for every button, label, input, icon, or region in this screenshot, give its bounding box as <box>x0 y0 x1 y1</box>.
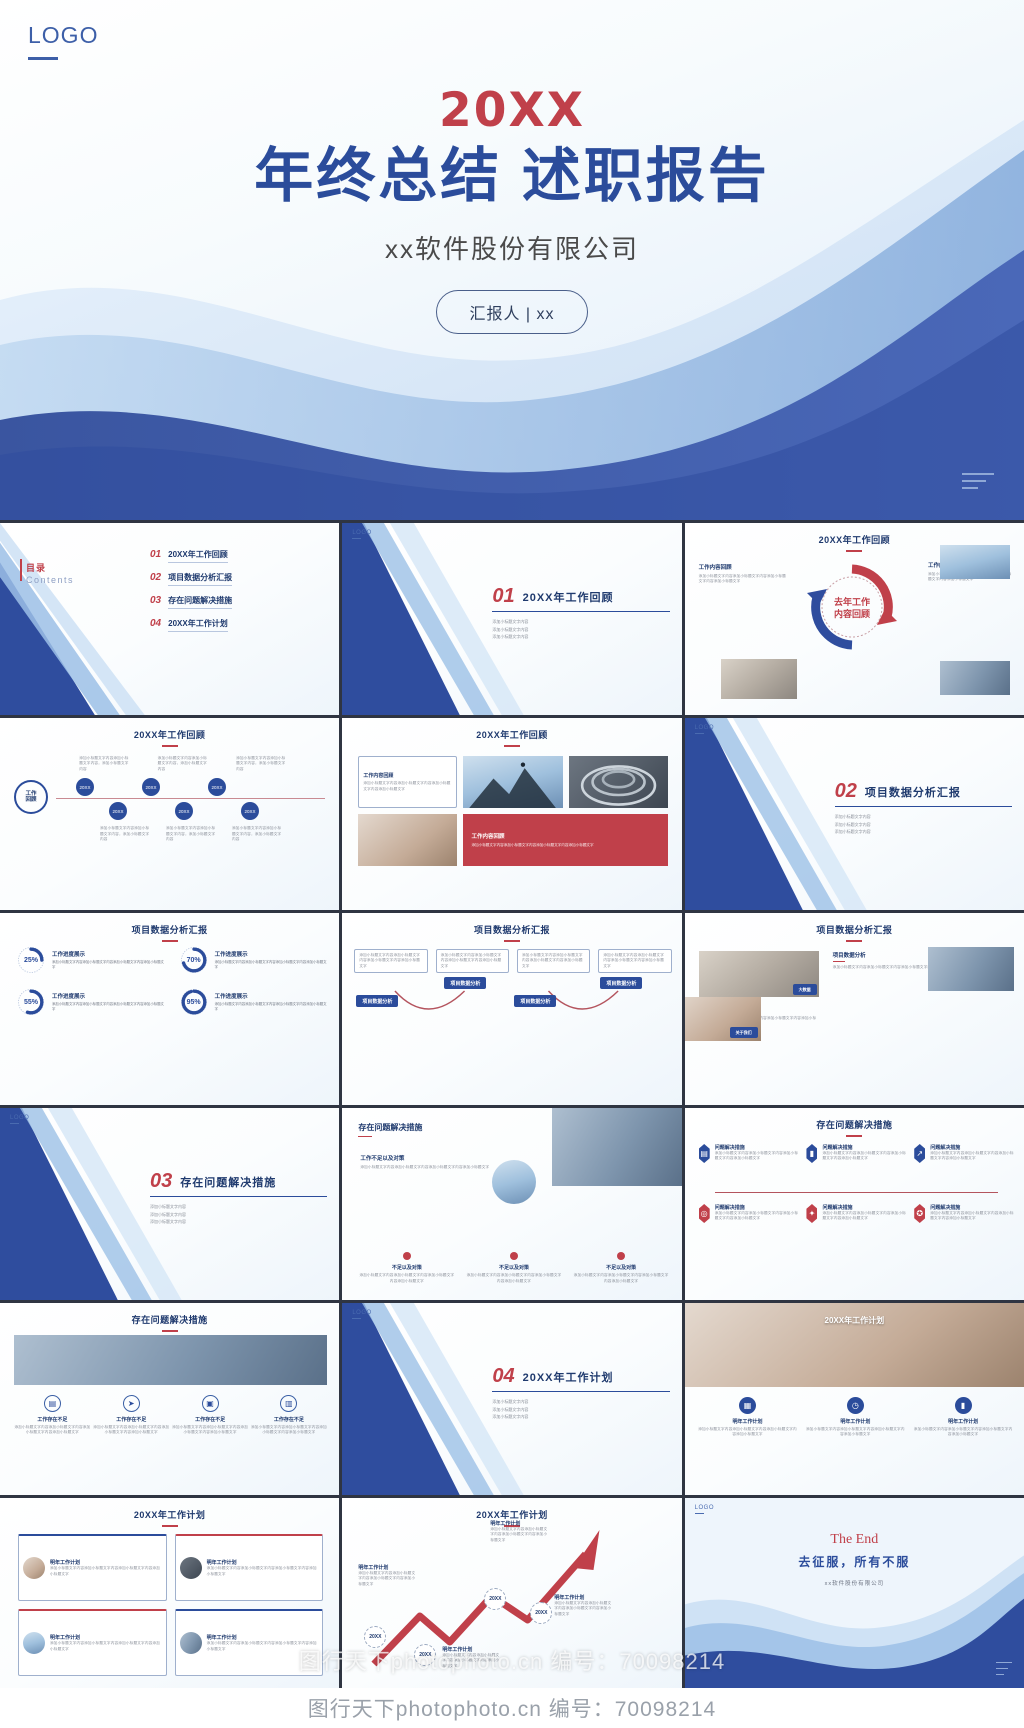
section-title: 项目数据分析汇报 <box>865 784 961 800</box>
timeline-hub: 工作回顾 <box>14 780 48 814</box>
donut-value: 70% <box>179 945 209 975</box>
card-body: 添加小标题文字内容添加小标题文字内容添加小标题文字内容添加小标题文字 <box>50 1566 162 1577</box>
slide-heading: 20XX年工作计划 <box>0 1508 339 1527</box>
section-title: 20XX年工作计划 <box>523 1369 614 1385</box>
hero-slide: LOGO 20XX 年终总结 述职报告 xx软件股份有限公司 汇报人 | xx <box>0 0 1024 520</box>
timeline-label: 添加小标题文字内容添加小标题文字内容，添加小标题文字内容 <box>79 756 131 772</box>
flow-pill: 项目数据分析 <box>514 995 556 1007</box>
item-body: 添加小标题文字内容添加小标题文字内容添加小标题文字内容添加小标题文字 <box>93 1425 170 1436</box>
problem-item: 不足以及对策 添加小标题文字内容添加小标题文字内容添加小标题文字内容添加小标题文… <box>573 1252 670 1284</box>
thumb-end[interactable]: LOGO The End 去征服，所有不服 xx软件股份有限公司 <box>685 1498 1024 1690</box>
plan-card: 明年工作计划 添加小标题文字内容添加小标题文字内容添加小标题文字内容添加小标题文… <box>175 1609 324 1676</box>
card-title: 工作内容回顾 <box>471 832 659 840</box>
card-thumb <box>180 1632 202 1654</box>
node-label: 20XX <box>484 1588 506 1610</box>
toc-item[interactable]: 01 20XX年工作回顾 <box>150 549 232 563</box>
label-body: 添加小标题文字内容添加小标题文字内容添加小标题文字内容添加小标题文字 <box>490 1527 550 1543</box>
flow-pill-label: 项目数据分析 <box>514 995 556 1007</box>
thumb-section-04[interactable]: LOGO 04 20XX年工作计划 添加小标题文字内容 添加小标题文字内容 添加… <box>342 1303 681 1495</box>
bullet: 添加小标题文字内容 <box>492 1406 669 1414</box>
clock-icon: ◷ <box>847 1397 864 1414</box>
donut-label: 工作进度展示 <box>52 950 165 958</box>
timeline-label: 添加小标题文字内容添加小标题文字内容，添加小标题文字内容 <box>158 756 210 772</box>
section-bullets: 添加小标题文字内容 添加小标题文字内容 添加小标题文字内容 <box>492 618 669 641</box>
slide-heading: 20XX年工作回顾 <box>0 728 339 747</box>
hero-logo-text: LOGO <box>28 22 98 49</box>
item-body: 添加小标题文字内容添加小标题文字内容添加小标题文字内容添加小标题文字 <box>14 1425 91 1436</box>
item-label: 不足以及对策 <box>358 1264 455 1271</box>
thumb-problem-three[interactable]: 存在问题解决措施 工作不足以及对策 添加小标题文字内容添加小标题文字内容添加小标… <box>342 1108 681 1300</box>
section-title: 20XX年工作回顾 <box>523 589 614 605</box>
bullet: 添加小标题文字内容 <box>492 618 669 626</box>
heading-rule <box>358 1136 372 1137</box>
timeline-axis <box>56 798 325 799</box>
timeline-node: 20XX <box>109 802 127 820</box>
icon-item: ▤ 工作存在不足 添加小标题文字内容添加小标题文字内容添加小标题文字内容添加小标… <box>14 1395 91 1436</box>
donut-item: 25% 工作进度展示 添加小标题文字内容添加小标题文字内容添加小标题文字内容添加… <box>16 945 165 975</box>
hex-connector-line <box>715 1192 998 1193</box>
timeline-top-labels: 添加小标题文字内容添加小标题文字内容，添加小标题文字内容 添加小标题文字内容添加… <box>10 756 331 772</box>
item-body: 添加小标题文字内容添加小标题文字内容添加小标题文字内容添加小标题文字 <box>804 1427 906 1438</box>
arrow-ring-icon: 去年工作 内容回顾 <box>797 555 907 659</box>
flow-pill-label: 项目数据分析 <box>600 977 642 989</box>
thumb-review-photos[interactable]: 20XX年工作回顾 工作内容回顾 添加小标题文字内容添加小标题文字内容添加小标题… <box>342 718 681 910</box>
timeline-label: 添加小标题文字内容添加小标题文字内容，添加小标题文字内容 <box>232 826 284 842</box>
timeline-bottom-labels: 添加小标题文字内容添加小标题文字内容，添加小标题文字内容 添加小标题文字内容添加… <box>10 826 331 842</box>
end-company: xx软件股份有限公司 <box>685 1579 1024 1587</box>
timeline-node: 20XX <box>241 802 259 820</box>
hex-item: ✦ 问题解决措施 添加小标题文字内容添加小标题文字内容添加小标题文字内容添加小标… <box>806 1204 906 1223</box>
timeline-node: 20XX <box>175 802 193 820</box>
section-number: 03 <box>150 1170 172 1193</box>
card-body: 添加小标题文字内容添加小标题文字内容添加小标题文字内容添加小标题文字 <box>207 1566 319 1577</box>
target-icon: ◎ <box>699 1204 710 1223</box>
photo-mountain <box>463 756 562 808</box>
photo-architecture <box>569 756 668 808</box>
donut-text: 工作进度展示 添加小标题文字内容添加小标题文字内容添加小标题文字内容添加小标题文… <box>215 992 328 1012</box>
label-title: 明年工作计划 <box>442 1646 502 1653</box>
donut-body: 添加小标题文字内容添加小标题文字内容添加小标题文字内容添加小标题文字 <box>215 960 328 970</box>
donut-chart: 55% <box>16 987 46 1017</box>
circular-arrow-diagram: 去年工作 内容回顾 <box>797 555 907 659</box>
donut-chart: 25% <box>16 945 46 975</box>
thumb-problem-icons[interactable]: 存在问题解决措施 ▤ 工作存在不足 添加小标题文字内容添加小标题文字内容添加小标… <box>0 1303 339 1495</box>
hex-item: ◎ 问题解决措施 添加小标题文字内容添加小标题文字内容添加小标题文字内容添加小标… <box>699 1204 799 1223</box>
hex-item: ▤ 问题解决措施 添加小标题文字内容添加小标题文字内容添加小标题文字内容添加小标… <box>699 1144 799 1163</box>
bullet: 添加小标题文字内容 <box>492 626 669 634</box>
donut-label: 工作进度展示 <box>52 992 165 1000</box>
bullet: 添加小标题文字内容 <box>150 1218 327 1226</box>
hero-corner-marks <box>962 473 994 494</box>
slide-logo: LOGO <box>352 1310 371 1319</box>
item-label: 问题解决措施 <box>930 1204 1014 1211</box>
donut-text: 工作进度展示 添加小标题文字内容添加小标题文字内容添加小标题文字内容添加小标题文… <box>52 950 165 970</box>
toc-label: 目录 Contents <box>26 561 74 585</box>
hex-item: ✪ 问题解决措施 添加小标题文字内容添加小标题文字内容添加小标题文字内容添加小标… <box>914 1204 1014 1223</box>
donut-chart: 95% <box>179 987 209 1017</box>
photo-office <box>940 545 1010 579</box>
problem-item: 不足以及对策 添加小标题文字内容添加小标题文字内容添加小标题文字内容添加小标题文… <box>465 1252 562 1284</box>
label-body: 添加小标题文字内容添加小标题文字内容添加小标题文字内容添加小标题文字 <box>358 1571 418 1587</box>
donut-text: 工作进度展示 添加小标题文字内容添加小标题文字内容添加小标题文字内容添加小标题文… <box>215 950 328 970</box>
toc-item-label: 存在问题解决措施 <box>168 595 232 609</box>
item-body: 添加小标题文字内容添加小标题文字内容添加小标题文字内容添加小标题文字 <box>250 1425 327 1436</box>
donut-value: 55% <box>16 987 46 1017</box>
item-body: 添加小标题文字内容添加小标题文字内容添加小标题文字内容添加小标题文字 <box>715 1211 799 1222</box>
flow-box: 添加小标题文字内容添加小标题文字内容添加小标题文字内容添加小标题文字 <box>598 949 671 973</box>
end-corner-marks <box>996 1662 1012 1680</box>
section-number: 04 <box>492 1365 514 1388</box>
donut-chart: 70% <box>179 945 209 975</box>
mountain-silhouette-icon <box>463 756 562 808</box>
title-rule <box>833 961 845 962</box>
timeline-label: 添加小标题文字内容添加小标题文字内容，添加小标题文字内容 <box>236 756 288 772</box>
flow-boxes: 添加小标题文字内容添加小标题文字内容添加小标题文字内容添加小标题文字 添加小标题… <box>354 949 671 973</box>
bullet: 添加小标题文字内容 <box>150 1211 327 1219</box>
problem-items: 不足以及对策 添加小标题文字内容添加小标题文字内容添加小标题文字内容添加小标题文… <box>358 1252 669 1284</box>
toc-item-number: 03 <box>150 595 161 606</box>
label-title: 明年工作计划 <box>490 1520 550 1527</box>
plan-item: ▮ 明年工作计划 添加小标题文字内容添加小标题文字内容添加小标题文字内容添加小标… <box>912 1397 1014 1438</box>
flow-pill: 项目数据分析 <box>600 977 642 989</box>
bullet: 添加小标题文字内容 <box>835 821 1012 829</box>
hex-top-row: ▤ 问题解决措施 添加小标题文字内容添加小标题文字内容添加小标题文字内容添加小标… <box>699 1144 1014 1163</box>
chart-node: 20XX <box>364 1626 386 1648</box>
donut-body: 添加小标题文字内容添加小标题文字内容添加小标题文字内容添加小标题文字 <box>215 1002 328 1012</box>
node-label: 20XX <box>414 1644 436 1666</box>
block-body: 添加小标题文字内容添加小标题文字内容添加小标题文字内容添加小标题文字 <box>699 574 787 585</box>
item-label: 明年工作计划 <box>804 1418 906 1425</box>
hero-logo: LOGO <box>28 22 98 60</box>
flow-pill-label: 项目数据分析 <box>444 977 486 989</box>
bullet-dot-icon <box>510 1252 518 1260</box>
slide-heading: 存在问题解决措施 <box>358 1122 422 1137</box>
section-rule <box>150 1196 327 1197</box>
cursor-icon: ➤ <box>123 1395 140 1412</box>
item-body: 添加小标题文字内容添加小标题文字内容添加小标题文字内容添加小标题文字 <box>358 1273 455 1284</box>
item-label: 问题解决措施 <box>930 1144 1014 1151</box>
slide-heading: 存在问题解决措施 <box>0 1313 339 1332</box>
slide-logo: LOGO <box>695 1505 714 1514</box>
donut-item: 55% 工作进度展示 添加小标题文字内容添加小标题文字内容添加小标题文字内容添加… <box>16 987 165 1017</box>
slide-heading: 项目数据分析汇报 <box>342 923 681 942</box>
item-body: 添加小标题文字内容添加小标题文字内容添加小标题文字内容添加小标题文字 <box>912 1427 1014 1438</box>
timeline: 添加小标题文字内容添加小标题文字内容，添加小标题文字内容 添加小标题文字内容添加… <box>10 756 331 842</box>
item-label: 工作存在不足 <box>14 1416 91 1423</box>
bullet: 添加小标题文字内容 <box>835 828 1012 836</box>
node-label: 20XX <box>530 1602 552 1624</box>
hero-content: 20XX 年终总结 述职报告 xx软件股份有限公司 汇报人 | xx <box>0 86 1024 334</box>
timeline-label: 添加小标题文字内容添加小标题文字内容，添加小标题文字内容 <box>166 826 218 842</box>
hex-item: ↗ 问题解决措施 添加小标题文字内容添加小标题文字内容添加小标题文字内容添加小标… <box>914 1144 1014 1163</box>
donut-body: 添加小标题文字内容添加小标题文字内容添加小标题文字内容添加小标题文字 <box>52 1002 165 1012</box>
hex-bottom-row: ◎ 问题解决措施 添加小标题文字内容添加小标题文字内容添加小标题文字内容添加小标… <box>699 1204 1014 1223</box>
plan-item: ◷ 明年工作计划 添加小标题文字内容添加小标题文字内容添加小标题文字内容添加小标… <box>804 1397 906 1438</box>
svg-text:内容回顾: 内容回顾 <box>834 608 870 619</box>
hero-title: 年终总结 述职报告 <box>0 143 1024 211</box>
item-label: 明年工作计划 <box>697 1418 799 1425</box>
slide-logo: LOGO <box>10 1115 29 1124</box>
toc-item-number: 01 <box>150 549 161 560</box>
timeline-label: 添加小标题文字内容添加小标题文字内容，添加小标题文字内容 <box>100 826 152 842</box>
photo-desk-hands <box>358 814 457 866</box>
slide-heading: 项目数据分析汇报 <box>0 923 339 942</box>
timeline-node: 20XX <box>208 778 226 796</box>
end-wave-decoration <box>685 1498 1024 1690</box>
timeline-hub-label: 工作回顾 <box>25 791 36 804</box>
section-block: 01 20XX年工作回顾 添加小标题文字内容 添加小标题文字内容 添加小标题文字… <box>492 585 669 641</box>
thumb-review-timeline[interactable]: 20XX年工作回顾 添加小标题文字内容添加小标题文字内容，添加小标题文字内容 添… <box>0 718 339 910</box>
chart-node: 20XX <box>484 1588 506 1610</box>
hero-logo-underline <box>28 57 58 60</box>
red-text-card: 工作内容回顾 添加小标题文字内容添加小标题文字内容添加小标题文字内容添加小标题文… <box>463 814 667 866</box>
bullet: 添加小标题文字内容 <box>492 633 669 641</box>
flow-box: 添加小标题文字内容添加小标题文字内容添加小标题文字内容添加小标题文字 <box>436 949 509 973</box>
photo-tag: 关于我们 <box>730 1027 758 1038</box>
chart-label: 明年工作计划 添加小标题文字内容添加小标题文字内容添加小标题文字内容添加小标题文… <box>554 1594 614 1617</box>
toc-list: 01 20XX年工作回顾 02 项目数据分析汇报 03 存在问题解决措施 04 … <box>150 549 232 641</box>
bullet: 添加小标题文字内容 <box>150 1203 327 1211</box>
card-thumb <box>23 1632 45 1654</box>
photo-meeting <box>721 659 797 699</box>
thumb-plan-chart[interactable]: 20XX年工作计划 20XX 20XX 20XX 20XX 明年工作计划 添加小… <box>342 1498 681 1690</box>
toc-item-number: 02 <box>150 572 161 583</box>
card-body: 添加小标题文字内容添加小标题文字内容添加小标题文字内容添加小标题文字 <box>471 843 659 849</box>
flow-pill: 项目数据分析 <box>444 977 486 989</box>
toc-accent-bar <box>20 559 22 581</box>
ascending-trend-arrow <box>342 1524 681 1674</box>
toc-item[interactable]: 04 20XX年工作计划 <box>150 618 232 632</box>
block-body: 添加小标题文字内容添加小标题文字内容添加小标题文字内容添加小标题文字 <box>360 1165 490 1170</box>
item-label: 工作存在不足 <box>250 1416 327 1423</box>
watermark-bar: 图行天下photophoto.cn 编号：70098214 <box>0 1688 1024 1728</box>
icon-item: ▣ 工作存在不足 添加小标题文字内容添加小标题文字内容添加小标题文字内容添加小标… <box>172 1395 249 1436</box>
toc-label-cn: 目录 <box>26 561 74 574</box>
thumb-plan-icons[interactable]: 20XX年工作计划 ▦ 明年工作计划 添加小标题文字内容添加小标题文字内容添加小… <box>685 1303 1024 1495</box>
photo-skyscraper <box>14 1335 327 1385</box>
gear-icon: ✪ <box>914 1204 925 1223</box>
flow-box: 添加小标题文字内容添加小标题文字内容添加小标题文字内容添加小标题文字 <box>354 949 427 973</box>
section-bullets: 添加小标题文字内容 添加小标题文字内容 添加小标题文字内容 <box>492 1398 669 1421</box>
card-thumb <box>180 1557 202 1579</box>
hero-presenter-badge: 汇报人 | xx <box>436 290 587 334</box>
icon-item: ➤ 工作存在不足 添加小标题文字内容添加小标题文字内容添加小标题文字内容添加小标… <box>93 1395 170 1436</box>
card-body: 添加小标题文字内容添加小标题文字内容添加小标题文字内容添加小标题文字 <box>50 1641 162 1652</box>
item-label: 问题解决措施 <box>822 1204 906 1211</box>
item-label: 明年工作计划 <box>912 1418 1014 1425</box>
section-bullets: 添加小标题文字内容 添加小标题文字内容 添加小标题文字内容 <box>835 813 1012 836</box>
toc-item[interactable]: 02 项目数据分析汇报 <box>150 572 232 586</box>
toc-item[interactable]: 03 存在问题解决措施 <box>150 595 232 609</box>
slide-heading: 20XX年工作计划 <box>685 1315 1024 1326</box>
card-title: 工作内容回顾 <box>363 772 452 779</box>
node-label: 20XX <box>364 1626 386 1648</box>
section-rule <box>835 806 1012 807</box>
hex-item: ▮ 问题解决措施 添加小标题文字内容添加小标题文字内容添加小标题文字内容添加小标… <box>806 1144 906 1163</box>
slide-heading: 项目数据分析汇报 <box>685 923 1024 942</box>
slide-heading: 存在问题解决措施 <box>685 1118 1024 1137</box>
item-body: 添加小标题文字内容添加小标题文字内容添加小标题文字内容添加小标题文字 <box>930 1151 1014 1162</box>
item-body: 添加小标题文字内容添加小标题文字内容添加小标题文字内容添加小标题文字 <box>697 1427 799 1438</box>
thumb-section-01[interactable]: LOGO 01 20XX年工作回顾 添加小标题文字内容 添加小标题文字内容 添加… <box>342 523 681 715</box>
chart-label: 明年工作计划 添加小标题文字内容添加小标题文字内容添加小标题文字内容添加小标题文… <box>490 1520 550 1543</box>
thumb-section-02[interactable]: LOGO 02 项目数据分析汇报 添加小标题文字内容 添加小标题文字内容 添加小… <box>685 718 1024 910</box>
text-card: 工作内容回顾 添加小标题文字内容添加小标题文字内容添加小标题文字内容添加小标题文… <box>358 756 457 808</box>
spiral-building-icon <box>569 756 668 808</box>
item-label: 工作存在不足 <box>93 1416 170 1423</box>
card-body: 添加小标题文字内容添加小标题文字内容添加小标题文字内容添加小标题文字 <box>207 1641 319 1652</box>
donut-value: 25% <box>16 945 46 975</box>
calendar-icon: ▦ <box>739 1397 756 1414</box>
bullet-dot-icon <box>403 1252 411 1260</box>
section-number: 01 <box>492 585 514 608</box>
chart-node: 20XX <box>530 1602 552 1624</box>
plan-card: 明年工作计划 添加小标题文字内容添加小标题文字内容添加小标题文字内容添加小标题文… <box>18 1609 167 1676</box>
item-label: 工作存在不足 <box>172 1416 249 1423</box>
slide-logo: LOGO <box>352 530 371 539</box>
plan-card: 明年工作计划 添加小标题文字内容添加小标题文字内容添加小标题文字内容添加小标题文… <box>175 1534 324 1601</box>
watermark-text: 图行天下photophoto.cn 编号：70098214 <box>308 1693 716 1723</box>
label-body: 添加小标题文字内容添加小标题文字内容添加小标题文字内容添加小标题文字 <box>554 1601 614 1617</box>
thumb-section-03[interactable]: LOGO 03 存在问题解决措施 添加小标题文字内容 添加小标题文字内容 添加小… <box>0 1108 339 1300</box>
photo-monitor <box>928 947 1014 991</box>
chart-label: 明年工作计划 添加小标题文字内容添加小标题文字内容添加小标题文字内容添加小标题文… <box>358 1564 418 1587</box>
item-body: 添加小标题文字内容添加小标题文字内容添加小标题文字内容添加小标题文字 <box>930 1211 1014 1222</box>
donut-value: 95% <box>179 987 209 1017</box>
photo-laptop: 大数据 <box>699 951 819 997</box>
end-title-en: The End <box>685 1532 1024 1548</box>
presentation-preview-page: LOGO 20XX 年终总结 述职报告 xx软件股份有限公司 汇报人 | xx … <box>0 0 1024 1728</box>
item-body: 添加小标题文字内容添加小标题文字内容添加小标题文字内容添加小标题文字 <box>172 1425 249 1436</box>
section-rule <box>492 611 669 612</box>
item-label: 问题解决措施 <box>715 1144 799 1151</box>
donut-body: 添加小标题文字内容添加小标题文字内容添加小标题文字内容添加小标题文字 <box>52 960 165 970</box>
timeline-node: 20XX <box>142 778 160 796</box>
thumb-data-flow[interactable]: 项目数据分析汇报 添加小标题文字内容添加小标题文字内容添加小标题文字内容添加小标… <box>342 913 681 1105</box>
block-title: 工作内容回顾 <box>699 563 787 571</box>
toc-item-label: 20XX年工作回顾 <box>168 549 228 563</box>
bullet-dot-icon <box>617 1252 625 1260</box>
item-body: 添加小标题文字内容添加小标题文字内容添加小标题文字内容添加小标题文字 <box>715 1151 799 1162</box>
donut-label: 工作进度展示 <box>215 992 328 1000</box>
problem-item: 不足以及对策 添加小标题文字内容添加小标题文字内容添加小标题文字内容添加小标题文… <box>358 1252 455 1284</box>
heading-text: 存在问题解决措施 <box>358 1122 422 1133</box>
plan-card-grid: 明年工作计划 添加小标题文字内容添加小标题文字内容添加小标题文字内容添加小标题文… <box>18 1534 323 1676</box>
chart-node: 20XX <box>414 1644 436 1666</box>
photo-typing: 关于我们 <box>685 997 761 1041</box>
bullet: 添加小标题文字内容 <box>492 1413 669 1421</box>
timeline-node: 20XX <box>76 778 94 796</box>
item-body: 添加小标题文字内容添加小标题文字内容添加小标题文字内容添加小标题文字 <box>822 1151 906 1162</box>
slide-heading: 20XX年工作回顾 <box>342 728 681 747</box>
card-body: 添加小标题文字内容添加小标题文字内容添加小标题文字内容添加小标题文字 <box>363 781 452 792</box>
section-block: 04 20XX年工作计划 添加小标题文字内容 添加小标题文字内容 添加小标题文字… <box>492 1365 669 1421</box>
toc-label-en: Contents <box>26 575 74 585</box>
photo-grid: 工作内容回顾 添加小标题文字内容添加小标题文字内容添加小标题文字内容添加小标题文… <box>358 756 667 866</box>
left-text-block: 工作内容回顾 添加小标题文字内容添加小标题文字内容添加小标题文字内容添加小标题文… <box>699 563 787 585</box>
section-block: 02 项目数据分析汇报 添加小标题文字内容 添加小标题文字内容 添加小标题文字内… <box>835 780 1012 836</box>
label-title: 明年工作计划 <box>554 1594 614 1601</box>
thumb-data-photo[interactable]: 项目数据分析汇报 大数据 项目数据分析 添加小标题文字内容添加小标题文字内容添加… <box>685 913 1024 1105</box>
item-body: 添加小标题文字内容添加小标题文字内容添加小标题文字内容添加小标题文字 <box>573 1273 670 1284</box>
plan-item: ▦ 明年工作计划 添加小标题文字内容添加小标题文字内容添加小标题文字内容添加小标… <box>697 1397 799 1438</box>
item-label: 不足以及对策 <box>465 1264 562 1271</box>
bar-chart-icon: ▮ <box>955 1397 972 1414</box>
bullet: 添加小标题文字内容 <box>835 813 1012 821</box>
slide-thumbnail-grid: 目录 Contents 01 20XX年工作回顾 02 项目数据分析汇报 03 … <box>0 520 1024 1690</box>
end-title-cn: 去征服，所有不服 <box>685 1553 1024 1570</box>
svg-text:去年工作: 去年工作 <box>834 596 870 607</box>
plan-icon-items: ▦ 明年工作计划 添加小标题文字内容添加小标题文字内容添加小标题文字内容添加小标… <box>697 1397 1014 1438</box>
end-content: The End 去征服，所有不服 xx软件股份有限公司 <box>685 1532 1024 1587</box>
item-body: 添加小标题文字内容添加小标题文字内容添加小标题文字内容添加小标题文字 <box>465 1273 562 1284</box>
thumb-plan-cards[interactable]: 20XX年工作计划 明年工作计划 添加小标题文字内容添加小标题文字内容添加小标题… <box>0 1498 339 1690</box>
item-label: 问题解决措施 <box>822 1144 906 1151</box>
item-body: 添加小标题文字内容添加小标题文字内容添加小标题文字内容添加小标题文字 <box>822 1211 906 1222</box>
donut-grid: 25% 工作进度展示 添加小标题文字内容添加小标题文字内容添加小标题文字内容添加… <box>16 945 327 1017</box>
chat-icon: ▣ <box>202 1395 219 1412</box>
section-title: 存在问题解决措施 <box>180 1174 276 1190</box>
card-thumb <box>23 1557 45 1579</box>
icon-items: ▤ 工作存在不足 添加小标题文字内容添加小标题文字内容添加小标题文字内容添加小标… <box>14 1395 327 1436</box>
label-title: 明年工作计划 <box>358 1564 418 1571</box>
flow-pill-label: 项目数据分析 <box>356 995 398 1007</box>
photo-handshake-circle <box>492 1160 536 1204</box>
donut-item: 95% 工作进度展示 添加小标题文字内容添加小标题文字内容添加小标题文字内容添加… <box>179 987 328 1017</box>
item-label: 问题解决措施 <box>715 1204 799 1211</box>
donut-label: 工作进度展示 <box>215 950 328 958</box>
book-icon: ▤ <box>44 1395 61 1412</box>
thumb-data-donuts[interactable]: 项目数据分析汇报 25% 工作进度展示 添加小标题文字内容添加小标题文字内容添加… <box>0 913 339 1105</box>
trend-up-icon: ↗ <box>914 1144 925 1163</box>
icon-item: ▥ 工作存在不足 添加小标题文字内容添加小标题文字内容添加小标题文字内容添加小标… <box>250 1395 327 1436</box>
item-label: 不足以及对策 <box>573 1264 670 1271</box>
photo-building <box>552 1108 682 1186</box>
thumb-problem-hex[interactable]: 存在问题解决措施 ▤ 问题解决措施 添加小标题文字内容添加小标题文字内容添加小标… <box>685 1108 1024 1300</box>
section-bullets: 添加小标题文字内容 添加小标题文字内容 添加小标题文字内容 <box>150 1203 327 1226</box>
thumb-contents[interactable]: 目录 Contents 01 20XX年工作回顾 02 项目数据分析汇报 03 … <box>0 523 339 715</box>
bullet: 添加小标题文字内容 <box>492 1398 669 1406</box>
label-body: 添加小标题文字内容添加小标题文字内容添加小标题文字内容添加小标题文字 <box>442 1653 502 1669</box>
thumb-review-circle[interactable]: 20XX年工作回顾 工作内容回顾 添加小标题文字内容添加小标题文字内容添加小标题… <box>685 523 1024 715</box>
block-title: 工作不足以及对策 <box>360 1154 490 1162</box>
slide-logo: LOGO <box>695 725 714 734</box>
section-rule <box>492 1391 669 1392</box>
hero-subtitle: xx软件股份有限公司 <box>0 229 1024 266</box>
donut-item: 70% 工作进度展示 添加小标题文字内容添加小标题文字内容添加小标题文字内容添加… <box>179 945 328 975</box>
document-icon: ▤ <box>699 1144 710 1163</box>
section-block: 03 存在问题解决措施 添加小标题文字内容 添加小标题文字内容 添加小标题文字内… <box>150 1170 327 1226</box>
chart-label: 明年工作计划 添加小标题文字内容添加小标题文字内容添加小标题文字内容添加小标题文… <box>442 1646 502 1669</box>
left-text-block: 工作不足以及对策 添加小标题文字内容添加小标题文字内容添加小标题文字内容添加小标… <box>360 1154 490 1170</box>
handshake-icon: ✦ <box>806 1204 817 1223</box>
flow-box: 添加小标题文字内容添加小标题文字内容添加小标题文字内容添加小标题文字 <box>517 949 590 973</box>
section-number: 02 <box>835 780 857 803</box>
donut-text: 工作进度展示 添加小标题文字内容添加小标题文字内容添加小标题文字内容添加小标题文… <box>52 992 165 1012</box>
toc-item-label: 20XX年工作计划 <box>168 618 228 632</box>
flow-pill: 项目数据分析 <box>356 995 398 1007</box>
photo-tag: 大数据 <box>793 984 817 995</box>
hero-year: 20XX <box>0 86 1024 135</box>
bar-chart-icon: ▮ <box>806 1144 817 1163</box>
plan-card: 明年工作计划 添加小标题文字内容添加小标题文字内容添加小标题文字内容添加小标题文… <box>18 1534 167 1601</box>
note-icon: ▥ <box>280 1395 297 1412</box>
toc-item-number: 04 <box>150 618 161 629</box>
photo-workspace <box>940 661 1010 695</box>
toc-item-label: 项目数据分析汇报 <box>168 572 232 586</box>
flow-arc-connectors <box>354 987 671 1033</box>
